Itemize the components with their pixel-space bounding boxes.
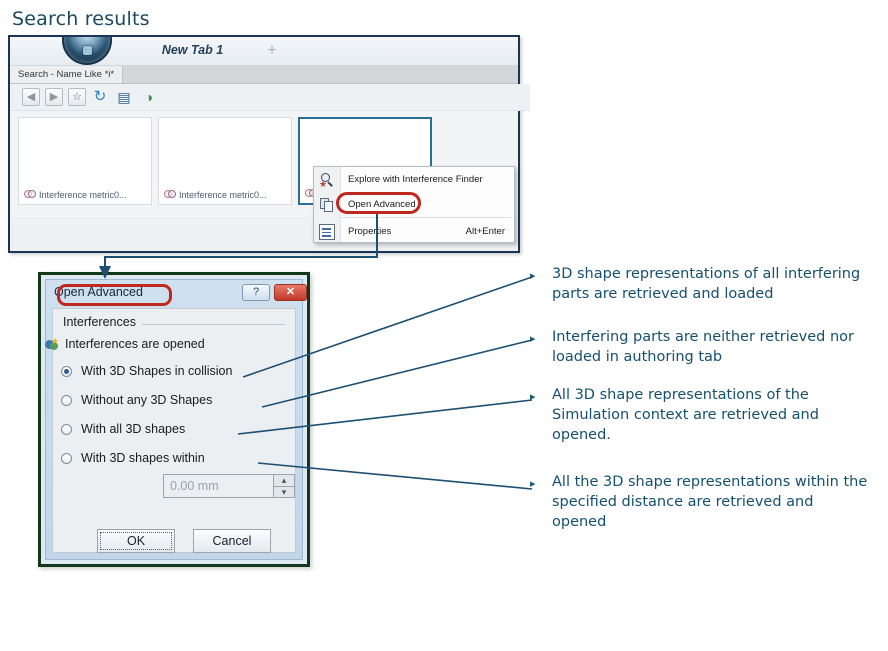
group-label-interferences: Interferences [63,315,142,329]
bullet-icon: ▸ [530,266,536,286]
menu-item-label: Properties [348,226,391,237]
dialog-body: Interferences ★ Interferences are opened… [52,308,296,553]
window-titlebar: New Tab 1 + [10,37,518,66]
highlight-open-advanced-menu [336,192,421,214]
menu-item-label: Explore with Interference Finder [348,174,483,185]
globe-share-icon[interactable]: ◑ [140,88,158,106]
favorite-star-icon[interactable]: ☆ [68,88,86,106]
refresh-icon[interactable]: ↻ [91,88,109,106]
annotation-text: All 3D shape representations of the Simu… [552,387,819,443]
radio-indicator[interactable] [61,366,72,377]
annotation-item: ▸ All the 3D shape representations withi… [552,472,872,532]
radio-indicator[interactable] [61,395,72,406]
help-button[interactable]: ? [242,284,270,301]
interference-icon [24,190,37,199]
menu-item-shortcut: Alt+Enter [466,219,505,244]
stepper-buttons[interactable]: ▴ ▾ [273,474,295,498]
subtab-search-name-like[interactable]: Search - Name Like *i* [10,66,123,83]
interference-icon [164,190,177,199]
subtab-bar: Search - Name Like *i* [10,66,518,84]
open-advanced-icon [319,197,335,213]
menu-separator [341,217,511,218]
annotation-text: All the 3D shape representations within … [552,474,867,530]
distance-stepper[interactable]: 0.00 mm ▴ ▾ [163,474,295,498]
page-title: Search results [12,8,150,30]
result-card-label: Interference metric0... [164,189,287,200]
interferences-opened-icon: ★ [45,337,60,351]
radio-indicator[interactable] [61,424,72,435]
menu-item-explore-with-interference-finder[interactable]: ★ Explore with Interference Finder [314,167,514,192]
radio-with-all-3d-shapes[interactable]: With all 3D shapes [81,422,185,436]
dialog-subheading: ★ Interferences are opened [65,337,205,351]
ok-button[interactable]: OK [97,529,175,553]
annotation-item: ▸ Interfering parts are neither retrieve… [552,327,882,367]
result-card-label: Interference metric0... [24,189,147,200]
annotation-text: Interfering parts are neither retrieved … [552,329,854,365]
menu-item-properties[interactable]: Properties Alt+Enter [314,219,514,244]
stepper-down-icon[interactable]: ▾ [274,487,294,498]
result-card[interactable]: Interference metric0... [158,117,292,205]
annotation-item: ▸ 3D shape representations of all interf… [552,264,882,304]
properties-icon [319,224,335,240]
explore-interference-icon: ★ [319,172,335,188]
stepper-up-icon[interactable]: ▴ [274,475,294,487]
radio-with-3d-shapes-in-collision[interactable]: With 3D Shapes in collision [81,364,232,378]
export-table-icon[interactable]: ▤ [115,88,133,106]
compass-logo-icon[interactable] [62,37,112,65]
highlight-dialog-title [57,284,172,306]
distance-input[interactable]: 0.00 mm [163,474,275,498]
radio-label: Without any 3D Shapes [81,393,212,407]
radio-label: With all 3D shapes [81,422,185,436]
result-card[interactable]: Interference metric0... [18,117,152,205]
bullet-icon: ▸ [530,329,536,349]
add-tab-icon[interactable]: + [260,41,284,61]
radio-indicator[interactable] [61,453,72,464]
results-toolbar: ◀ ▶ ☆ ↻ ▤ ◑ [10,84,530,111]
close-button[interactable]: ✕ [274,284,307,301]
radio-with-3d-shapes-within[interactable]: With 3D shapes within [81,451,205,465]
tab-new-tab-1[interactable]: New Tab 1 [120,39,265,66]
radio-label: With 3D shapes within [81,451,205,465]
forward-icon[interactable]: ▶ [45,88,63,106]
radio-without-any-3d-shapes[interactable]: Without any 3D Shapes [81,393,212,407]
cancel-button[interactable]: Cancel [193,529,271,553]
radio-label: With 3D Shapes in collision [81,364,232,378]
bullet-icon: ▸ [530,474,536,494]
annotation-text: 3D shape representations of all interfer… [552,266,860,302]
bullet-icon: ▸ [530,387,536,407]
annotation-item: ▸ All 3D shape representations of the Si… [552,385,872,445]
back-icon[interactable]: ◀ [22,88,40,106]
open-advanced-dialog: Open Advanced ? ✕ Interferences ★ Interf… [38,272,310,567]
